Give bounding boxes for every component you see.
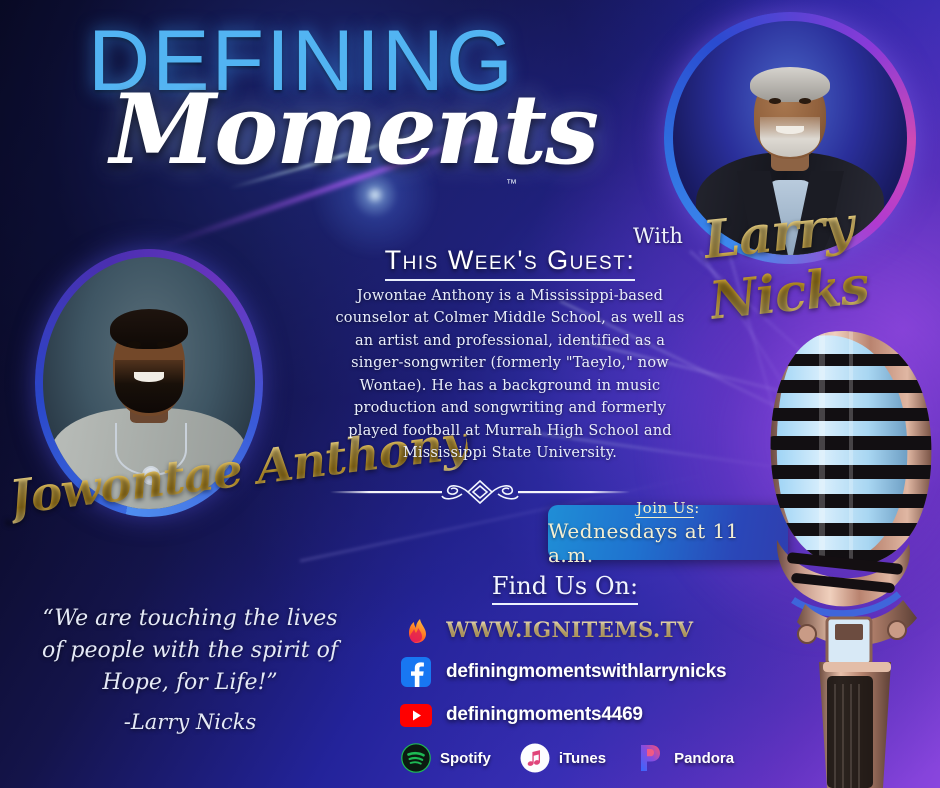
pandora-label[interactable]: Pandora <box>674 750 734 767</box>
itunes-app[interactable]: iTunes <box>519 742 606 774</box>
website-label[interactable]: WWW.IGNITEMS.TV <box>446 617 694 642</box>
guest-bio-text: Jowontae Anthony is a Mississippi-based … <box>328 285 692 465</box>
join-us-label-colon: : <box>694 499 700 517</box>
show-logo: DEFINING Moments ™ <box>88 18 558 208</box>
itunes-icon <box>519 742 551 774</box>
retro-microphone <box>731 318 940 788</box>
host-name-signature: Larry Nicks <box>700 186 940 332</box>
find-us-section: Find Us On: WWW.IGNITEMS.TV <box>400 572 730 774</box>
pandora-icon <box>634 742 666 774</box>
guest-heading-text: This Week's Guest: <box>385 245 636 281</box>
flame-icon <box>400 613 432 645</box>
youtube-row[interactable]: definingmoments4469 <box>400 698 730 732</box>
join-us-label-text: Join Us <box>636 499 694 518</box>
quote-text: “We are touching the lives of people wit… <box>40 603 340 699</box>
itunes-label[interactable]: iTunes <box>559 750 606 767</box>
guest-heading: This Week's Guest: <box>330 245 690 276</box>
microphone-icon <box>731 318 940 788</box>
spotify-label[interactable]: Spotify <box>440 750 491 767</box>
poster-canvas: DEFINING Moments ™ <box>0 0 940 788</box>
facebook-label[interactable]: definingmomentswithlarrynicks <box>446 661 726 683</box>
youtube-icon <box>400 699 432 731</box>
quote-author: -Larry Nicks <box>40 707 340 737</box>
youtube-label[interactable]: definingmoments4469 <box>446 704 643 726</box>
find-us-title-text: Find Us On: <box>492 572 638 605</box>
pandora-app[interactable]: Pandora <box>634 742 734 774</box>
facebook-icon <box>400 656 432 688</box>
quote-block: “We are touching the lives of people wit… <box>40 603 340 737</box>
streaming-apps-row: Spotify iTunes <box>400 742 730 774</box>
find-us-title: Find Us On: <box>400 572 730 600</box>
spotify-icon <box>400 742 432 774</box>
website-row[interactable]: WWW.IGNITEMS.TV <box>400 612 730 646</box>
facebook-row[interactable]: definingmomentswithlarrynicks <box>400 655 730 689</box>
trademark-symbol: ™ <box>506 178 517 190</box>
join-us-label: Join Us: <box>636 499 700 517</box>
logo-moments-text: Moments <box>110 82 597 178</box>
spotify-app[interactable]: Spotify <box>400 742 491 774</box>
